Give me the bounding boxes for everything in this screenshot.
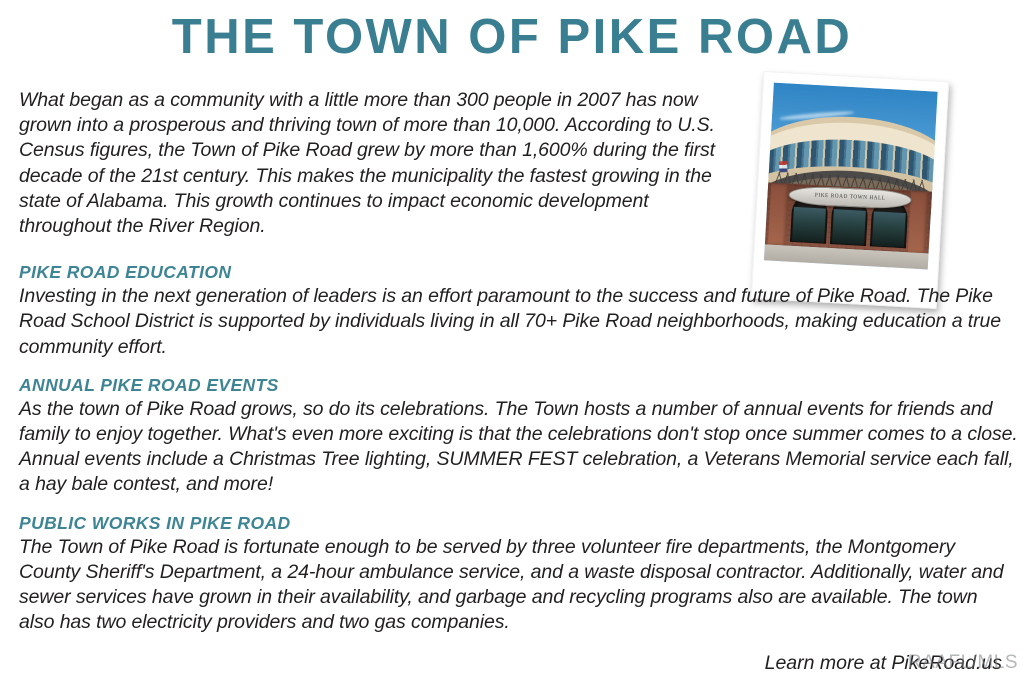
page-title: THE TOWN OF PIKE ROAD — [0, 8, 1024, 66]
spacer — [19, 498, 1005, 512]
section-annual-pike-road-events: ANNUAL PIKE ROAD EVENTS As the town of P… — [19, 374, 1005, 498]
spacer — [19, 360, 1005, 374]
section-heading-public-works: PUBLIC WORKS IN PIKE ROAD — [19, 512, 1005, 534]
article-content: What began as a community with a little … — [19, 88, 1005, 635]
section-public-works-in-pike-road: PUBLIC WORKS IN PIKE ROAD The Town of Pi… — [19, 512, 1005, 636]
spacer — [19, 239, 1005, 261]
section-body-events: As the town of Pike Road grows, so do it… — [19, 397, 1019, 498]
section-heading-events: ANNUAL PIKE ROAD EVENTS — [19, 374, 1005, 396]
learn-more-link[interactable]: Learn more at PikeRoad.us — [765, 651, 1002, 676]
section-body-education: Investing in the next generation of lead… — [19, 284, 1004, 360]
section-body-public-works: The Town of Pike Road is fortunate enoug… — [19, 535, 1004, 636]
section-pike-road-education: PIKE ROAD EDUCATION Investing in the nex… — [19, 261, 1005, 360]
intro-paragraph: What began as a community with a little … — [19, 88, 719, 239]
section-heading-education: PIKE ROAD EDUCATION — [19, 261, 1005, 283]
